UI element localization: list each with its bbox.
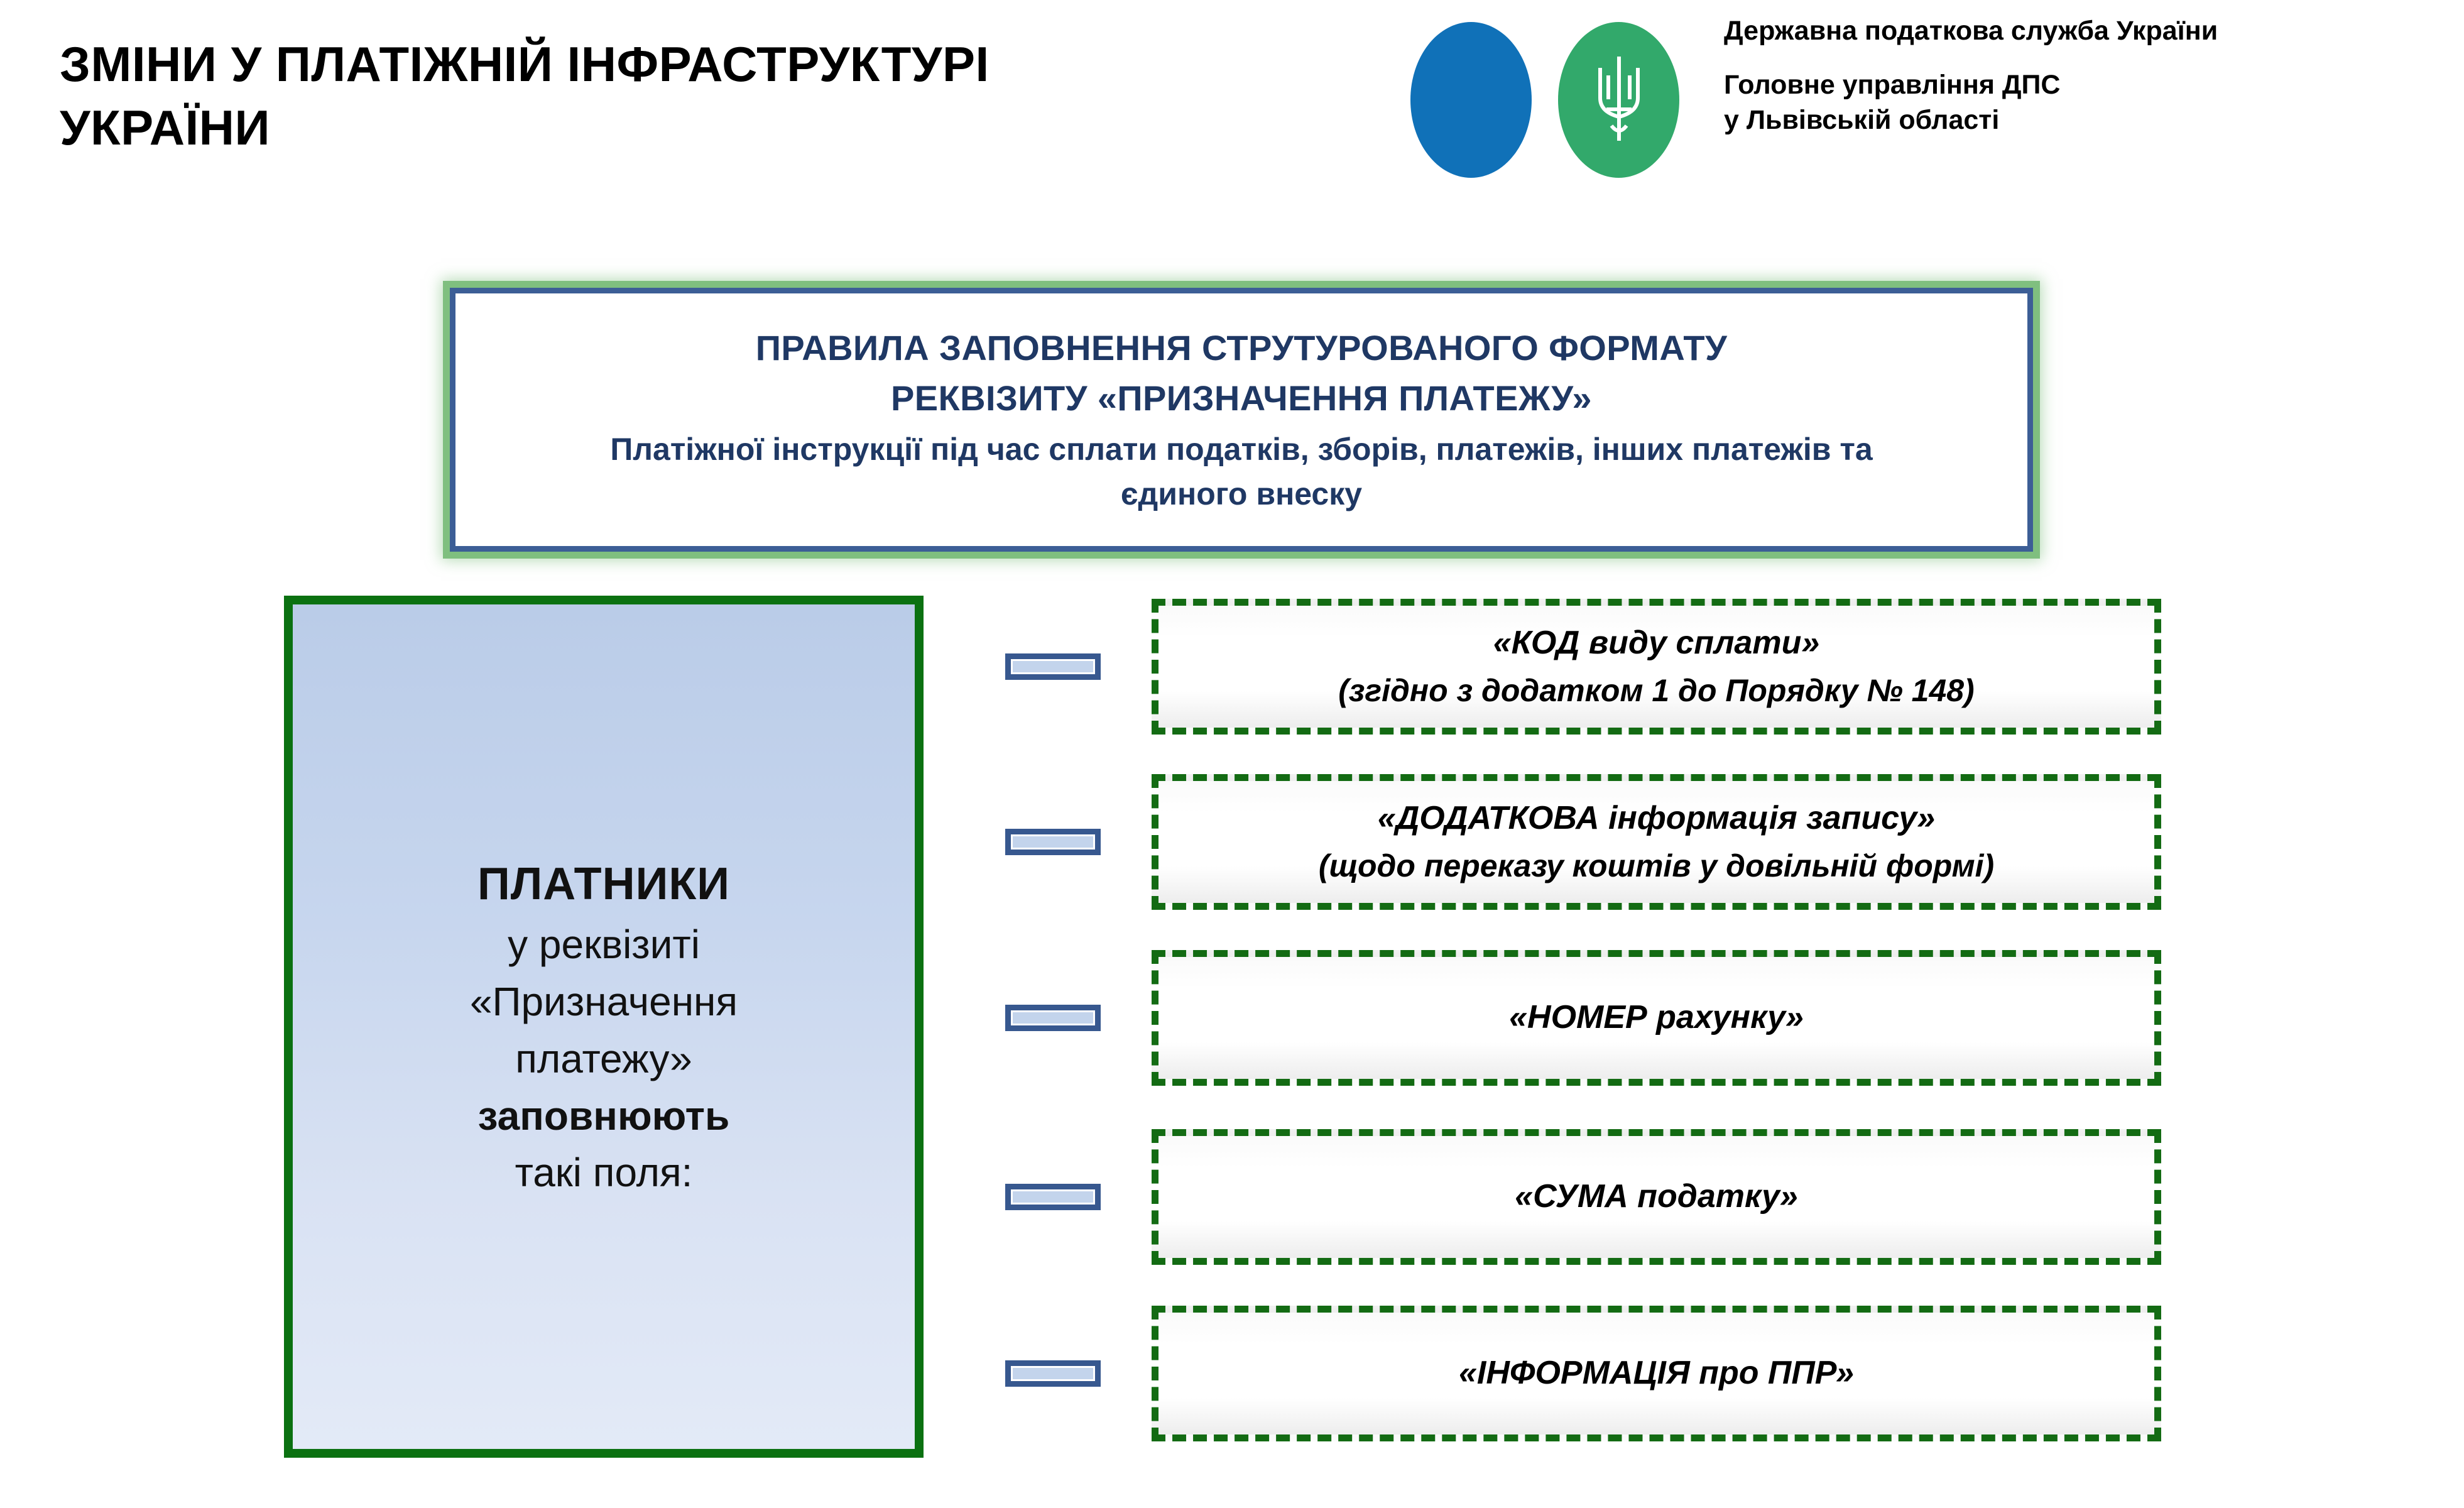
field-box-text: «СУМА податку» [1496,1172,1817,1222]
field-main-label: «ДОДАТКОВА інформація запису» [1319,796,1994,841]
field-sub-label: (щодо переказу коштів у довільній формі) [1319,844,1994,888]
field-main-label: «ІНФОРМАЦІЯ про ППР» [1459,1351,1854,1396]
connector-rect-icon [1005,1184,1101,1210]
field-box-suma-podatku[interactable]: «СУМА податку» [1152,1129,2161,1265]
connector-rect-icon [1005,653,1101,680]
organization-header: Державна податкова служба України Головн… [1407,6,2218,195]
field-row: «НОМЕР рахунку» [1005,950,2161,1086]
organization-text: Державна податкова служба України Головн… [1721,6,2218,138]
field-row: «ДОДАТКОВА інформація запису» (щодо пере… [1005,774,2161,910]
field-row: «ІНФОРМАЦІЯ про ППР» [1005,1306,2161,1441]
org-department-line: Головне управління ДПС у Львівській обла… [1724,68,2218,138]
payers-line-6: такі поля: [470,1144,738,1201]
blue-ellipse-icon [1410,22,1532,178]
connector-rect-icon [1005,829,1101,855]
payers-panel: ПЛАТНИКИ у реквізиті «Призначення платеж… [284,596,924,1458]
field-box-informatsiia-pro-ppr[interactable]: «ІНФОРМАЦІЯ про ППР» [1152,1306,2161,1441]
payers-line-1: ПЛАТНИКИ [470,852,738,916]
rules-subheading: Платіжної інструкції під час сплати пода… [610,427,1872,516]
field-row: «КОД виду сплати» (згідно з додатком 1 д… [1005,599,2161,735]
payers-panel-text: ПЛАТНИКИ у реквізиті «Призначення платеж… [439,852,769,1202]
trident-icon [1588,52,1650,146]
org-name-line: Державна податкова служба України [1724,14,2218,49]
field-box-text: «КОД виду сплати» (згідно з додатком 1 д… [1319,618,1993,716]
rules-banner: ПРАВИЛА ЗАПОВНЕННЯ СТРУТУРОВАНОГО ФОРМАТ… [450,288,2033,552]
field-box-kod-vydu-splaty[interactable]: «КОД виду сплати» (згідно з додатком 1 д… [1152,599,2161,735]
field-box-text: «ДОДАТКОВА інформація запису» (щодо пере… [1300,794,2013,891]
connector-rect-icon [1005,1360,1101,1387]
field-main-label: «СУМА податку» [1515,1174,1798,1220]
payers-line-5: заповнюють [470,1088,738,1145]
payers-line-3: «Призначення [470,973,738,1030]
rules-heading: ПРАВИЛА ЗАПОВНЕННЯ СТРУТУРОВАНОГО ФОРМАТ… [610,323,1872,423]
field-main-label: «НОМЕР рахунку» [1509,995,1804,1041]
field-main-label: «КОД виду сплати» [1338,621,1974,666]
rules-banner-text: ПРАВИЛА ЗАПОВНЕННЯ СТРУТУРОВАНОГО ФОРМАТ… [591,323,1891,516]
field-box-text: «НОМЕР рахунку» [1490,993,1823,1043]
dps-logo [1407,6,1721,195]
field-box-dodatkova-informatsiia[interactable]: «ДОДАТКОВА інформація запису» (щодо пере… [1152,774,2161,910]
page-title: ЗМІНИ У ПЛАТІЖНІЙ ІНФРАСТРУКТУРІ УКРАЇНИ [60,33,1392,160]
field-box-text: «ІНФОРМАЦІЯ про ППР» [1440,1348,1873,1399]
payers-line-2: у реквізиті [470,916,738,973]
field-row: «СУМА податку» [1005,1129,2161,1265]
field-sub-label: (згідно з додатком 1 до Порядку № 148) [1338,669,1974,713]
payers-line-4: платежу» [470,1030,738,1088]
field-box-nomer-rakhunku[interactable]: «НОМЕР рахунку» [1152,950,2161,1086]
connector-rect-icon [1005,1005,1101,1031]
